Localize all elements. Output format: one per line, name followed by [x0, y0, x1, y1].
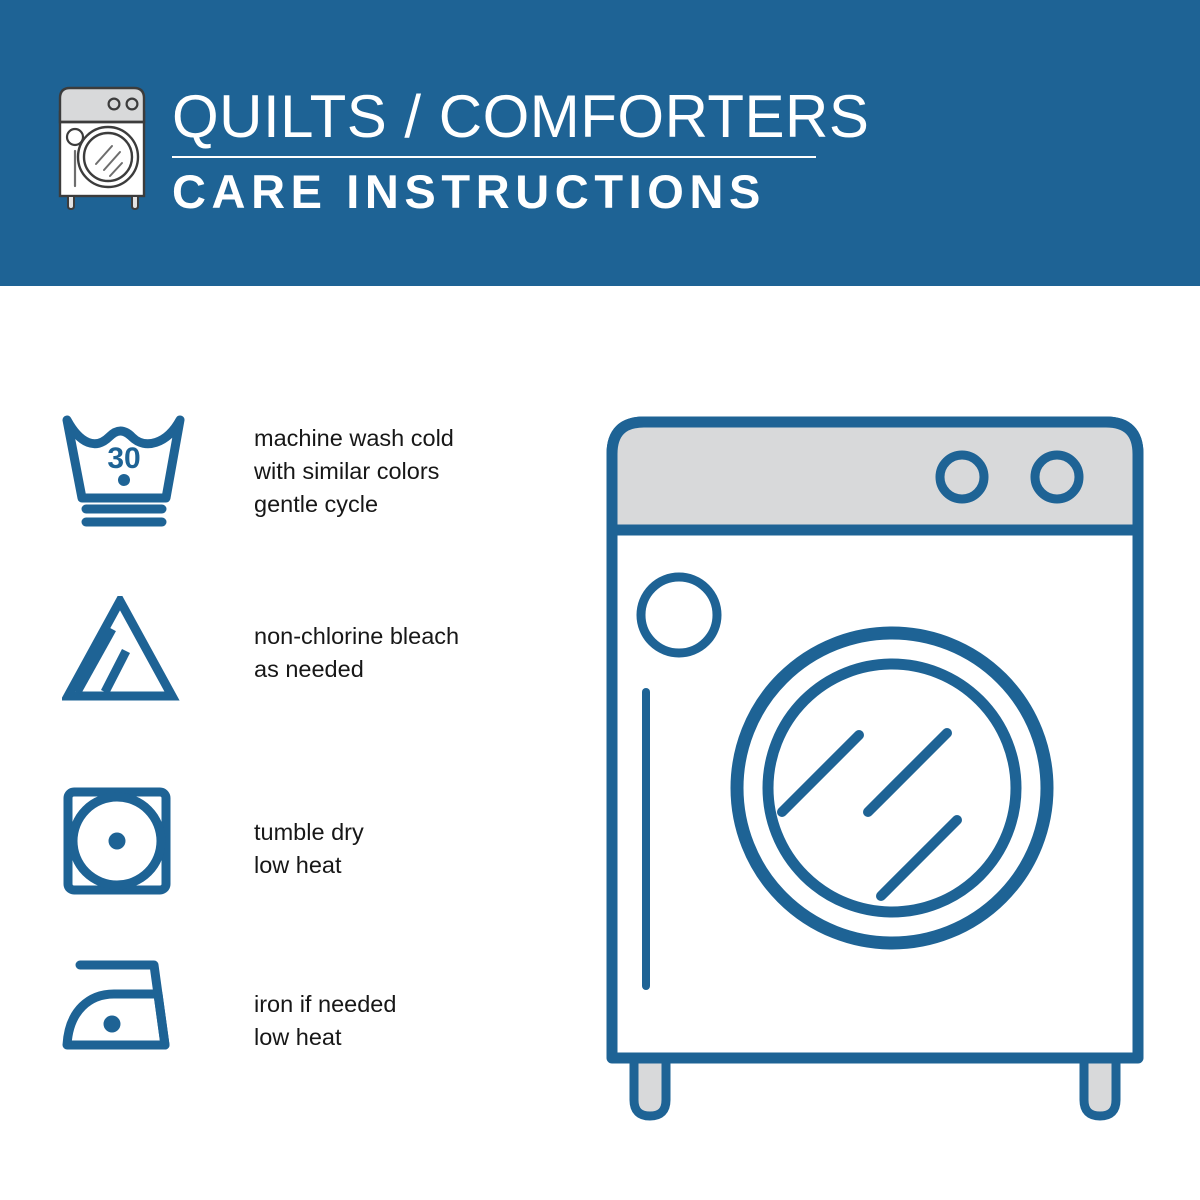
wash-tub-30-gentle-icon: 30: [62, 410, 192, 540]
care-text-line: non-chlorine bleach: [254, 620, 514, 653]
title-divider: [172, 156, 816, 158]
tumble-dry-low-icon: [62, 786, 192, 916]
care-row: tumble dry low heat: [0, 786, 520, 946]
care-text-line: low heat: [254, 849, 514, 882]
control-panel: [612, 422, 1138, 530]
iron-low-icon: [62, 958, 192, 1088]
care-text-wash: machine wash cold with similar colors ge…: [254, 422, 514, 521]
header-banner: QUILTS / COMFORTERS CARE INSTRUCTIONS: [0, 0, 1200, 286]
care-row: non-chlorine bleach as needed: [0, 596, 520, 756]
care-text-line: tumble dry: [254, 816, 514, 849]
care-text-iron: iron if needed low heat: [254, 988, 514, 1054]
page-title: QUILTS / COMFORTERS: [172, 86, 822, 148]
wash-temperature-label: 30: [107, 442, 140, 475]
care-row: iron if needed low heat: [0, 958, 520, 1118]
washing-machine-icon: [52, 78, 160, 210]
care-text-line: iron if needed: [254, 988, 514, 1021]
triangle-non-chlorine-bleach-icon: [62, 596, 192, 726]
care-symbol-list: 30 machine wash cold with similar colors…: [0, 286, 560, 1200]
page-subtitle: CARE INSTRUCTIONS: [172, 165, 822, 219]
care-row: 30 machine wash cold with similar colors…: [0, 410, 520, 570]
care-text-line: with similar colors: [254, 455, 514, 488]
care-text-line: gentle cycle: [254, 488, 514, 521]
header-text-block: QUILTS / COMFORTERS CARE INSTRUCTIONS: [172, 86, 822, 219]
washing-machine-illustration: [596, 404, 1172, 1128]
care-instructions-infographic: QUILTS / COMFORTERS CARE INSTRUCTIONS 30: [0, 0, 1200, 1200]
care-text-bleach: non-chlorine bleach as needed: [254, 620, 514, 686]
care-text-line: machine wash cold: [254, 422, 514, 455]
care-text-dry: tumble dry low heat: [254, 816, 514, 882]
care-text-line: low heat: [254, 1021, 514, 1054]
care-text-line: as needed: [254, 653, 514, 686]
